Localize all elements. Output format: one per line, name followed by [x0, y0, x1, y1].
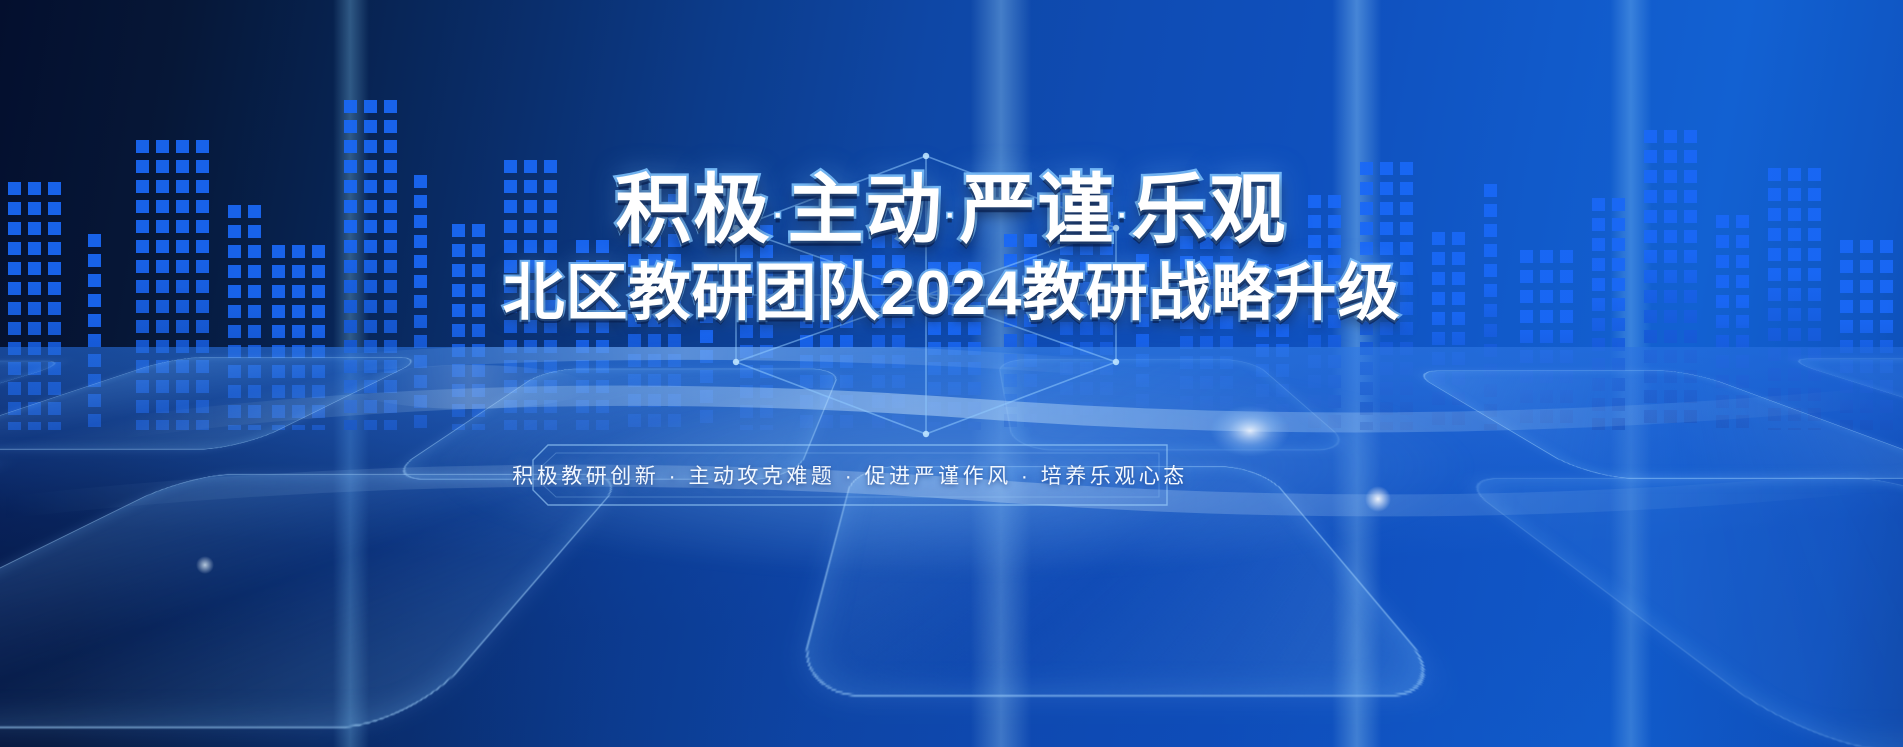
- title-word-4: 乐观: [1132, 168, 1288, 253]
- title-separator: ·: [1116, 199, 1132, 232]
- banner-main-title: 积极·主动·严谨·乐观: [0, 173, 1903, 249]
- title-word-1: 积极: [616, 168, 772, 253]
- banner-content: 积极·主动·严谨·乐观 北区教研团队2024教研战略升级 积极教研创新 · 主动…: [0, 0, 1903, 747]
- title-separator: ·: [772, 199, 788, 232]
- title-word-3: 严谨: [960, 168, 1116, 253]
- title-separator: ·: [944, 199, 960, 232]
- banner-subtitle: 北区教研团队2024教研战略升级: [0, 263, 1903, 325]
- promo-banner: 积极·主动·严谨·乐观 北区教研团队2024教研战略升级 积极教研创新 · 主动…: [0, 0, 1903, 747]
- tagline-frame: 积极教研创新 · 主动攻克难题 · 促进严谨作风 · 培养乐观心态: [532, 444, 1168, 506]
- banner-tagline: 积极教研创新 · 主动攻克难题 · 促进严谨作风 · 培养乐观心态: [532, 444, 1168, 506]
- title-word-2: 主动: [788, 168, 944, 253]
